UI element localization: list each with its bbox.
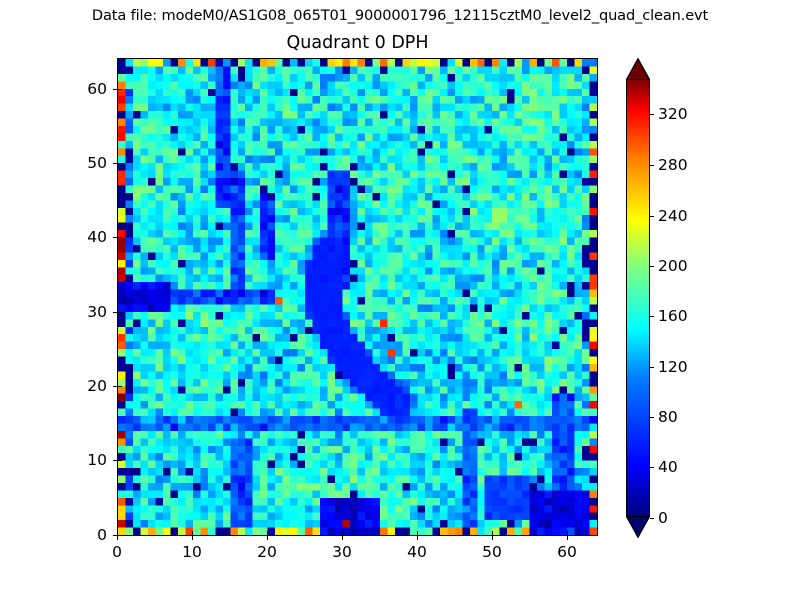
colorbar-tick-mark [650, 266, 654, 267]
colorbar-tick-label: 320 [658, 106, 688, 122]
colorbar-tick-mark [650, 417, 654, 418]
heatmap-axes[interactable] [117, 58, 598, 536]
axes-title: Quadrant 0 DPH [117, 32, 598, 54]
colorbar-gradient [626, 79, 650, 517]
x-tick-label: 10 [162, 544, 222, 560]
y-tick-label: 30 [53, 304, 107, 320]
colorbar-tick-mark [650, 114, 654, 115]
colorbar-extend-low-outline [626, 516, 650, 538]
x-tick-mark-outer [492, 536, 493, 540]
colorbar[interactable]: 04080120160200240280320 [626, 58, 650, 538]
colorbar-tick-mark [650, 216, 654, 217]
x-tick-mark-outer [417, 536, 418, 540]
y-tick-label: 50 [53, 155, 107, 171]
colorbar-tick-label: 240 [658, 208, 688, 224]
y-tick-mark-outer [113, 386, 117, 387]
y-tick-label: 20 [53, 378, 107, 394]
colorbar-tick-label: 200 [658, 258, 688, 274]
x-tick-label: 50 [462, 544, 522, 560]
y-tick-mark [118, 386, 122, 387]
x-tick-mark [492, 531, 493, 535]
x-tick-label: 40 [387, 544, 447, 560]
y-tick-label: 10 [53, 452, 107, 468]
x-tick-label: 20 [237, 544, 297, 560]
colorbar-tick-label: 120 [658, 359, 688, 375]
y-tick-label: 60 [53, 81, 107, 97]
colorbar-extend-high-outline [626, 58, 650, 80]
colorbar-tick-label: 160 [658, 308, 688, 324]
x-tick-label: 30 [312, 544, 372, 560]
y-tick-mark [118, 89, 122, 90]
y-tick-mark [118, 460, 122, 461]
colorbar-tick-label: 80 [658, 409, 678, 425]
y-tick-label: 40 [53, 229, 107, 245]
x-tick-mark [192, 531, 193, 535]
y-tick-mark-outer [113, 89, 117, 90]
colorbar-tick-mark [650, 367, 654, 368]
y-tick-mark [118, 163, 122, 164]
colorbar-tick-mark [650, 316, 654, 317]
figure-suptitle: Data file: modeM0/AS1G08_065T01_90000017… [0, 6, 800, 25]
x-tick-mark-outer [267, 536, 268, 540]
x-tick-label: 0 [87, 544, 147, 560]
y-tick-mark-outer [113, 237, 117, 238]
x-tick-mark-outer [117, 536, 118, 540]
x-tick-mark [267, 531, 268, 535]
colorbar-tick-label: 40 [658, 459, 678, 475]
colorbar-tick-mark [650, 165, 654, 166]
colorbar-tick-label: 0 [658, 510, 668, 526]
y-tick-mark-outer [113, 535, 117, 536]
x-tick-mark [567, 531, 568, 535]
x-tick-mark [417, 531, 418, 535]
x-tick-mark [342, 531, 343, 535]
colorbar-tick-mark [650, 467, 654, 468]
x-tick-mark-outer [192, 536, 193, 540]
x-tick-label: 60 [537, 544, 597, 560]
colorbar-tick-label: 280 [658, 157, 688, 173]
y-tick-mark [118, 312, 122, 313]
y-tick-mark-outer [113, 163, 117, 164]
matplotlib-figure: Data file: modeM0/AS1G08_065T01_90000017… [0, 0, 800, 600]
y-tick-mark-outer [113, 312, 117, 313]
colorbar-tick-mark [650, 518, 654, 519]
y-tick-mark [118, 535, 122, 536]
y-tick-mark-outer [113, 460, 117, 461]
detector-plane-histogram-image [118, 59, 597, 535]
y-tick-label: 0 [53, 527, 107, 543]
y-tick-mark [118, 237, 122, 238]
x-tick-mark-outer [342, 536, 343, 540]
x-tick-mark-outer [567, 536, 568, 540]
